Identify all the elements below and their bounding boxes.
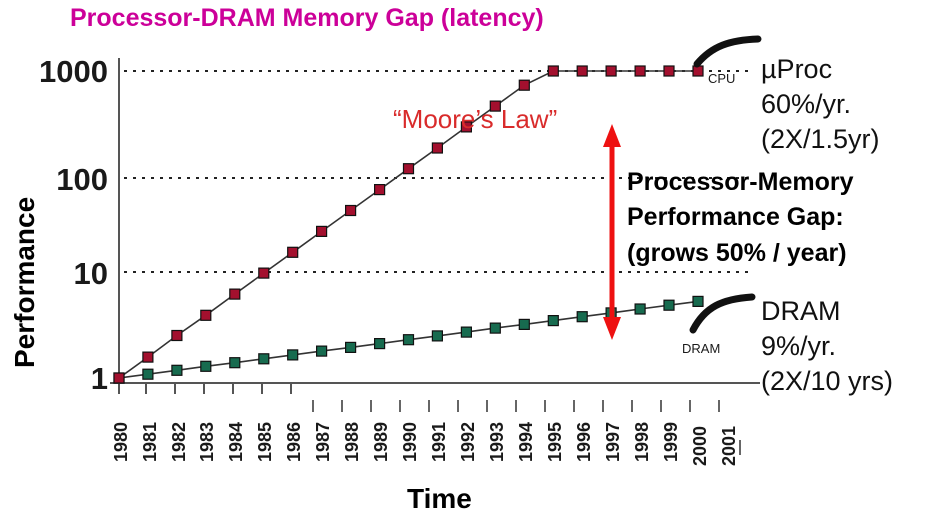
x-label-1994: 1994 [516,422,536,462]
gap-label-line-1: Processor-Memory [627,168,854,196]
cpu-marker-point [172,331,182,341]
dram-marker-point [404,335,414,345]
dram-marker-point [461,327,471,337]
cpu-marker-point [114,373,124,383]
cpu-marker-point [143,352,153,362]
x-label-1992: 1992 [458,422,478,462]
x-label-1984: 1984 [226,422,246,462]
dram-marker-point [230,358,240,368]
x-axis-ticks [119,383,291,394]
x-label-1995: 1995 [545,422,565,462]
memory-gap-chart: Processor-DRAM Memory Gap (latency) Perf… [0,0,925,517]
cpu-marker-point [548,66,558,76]
x-label-1988: 1988 [342,422,362,462]
x-label-1987: 1987 [313,422,333,462]
x-label-1981: 1981 [140,422,160,462]
cpu-marker-point [519,80,529,90]
dram-curve-tag: DRAM [682,341,720,356]
cpu-legend-line-3: (2X/1.5yr) [761,124,880,154]
x-label-1998: 1998 [632,422,652,462]
x-label-1982: 1982 [169,422,189,462]
cpu-marker-point [375,185,385,195]
x-label-1996: 1996 [574,422,594,462]
x-label-1990: 1990 [400,422,420,462]
dram-legend-line-2: 9%/yr. [761,331,836,361]
cpu-marker-point [346,206,356,216]
cpu-marker-point [664,66,674,76]
cpu-curve-tag: CPU [708,71,735,86]
dram-marker-point [259,354,269,364]
dram-marker-point [519,319,529,329]
x-label-1986: 1986 [284,422,304,462]
moores-law-annotation: “Moore’s Law” [393,104,557,134]
y-tick-1: 1 [91,361,108,396]
dram-marker-point [664,300,674,310]
x-label-1985: 1985 [255,422,275,462]
x-axis-title: Time [407,483,472,514]
cpu-marker-point [317,226,327,236]
cpu-marker-point [404,164,414,174]
gap-label-line-3: (grows 50% / year) [627,239,847,267]
gap-arrow-head-bottom [603,317,621,340]
cpu-marker-point [635,66,645,76]
gap-label-line-2: Performance Gap: [627,203,844,231]
x-label-2000: 2000 [690,426,710,466]
cpu-legend-line-1: µProc [761,54,832,84]
cpu-swoosh-decoration [697,39,758,64]
dram-marker-point [172,365,182,375]
cpu-marker-point [288,247,298,257]
x-tick-labels: 1980 1981 1982 1983 1984 1985 1986 1987 … [111,422,739,466]
dram-marker-point [635,304,645,314]
cpu-marker-point [577,66,587,76]
dram-marker-point [490,323,500,333]
x-label-1989: 1989 [371,422,391,462]
dram-marker-point [577,312,587,322]
y-tick-1000: 1000 [39,54,108,89]
dram-series-markers [114,296,703,383]
dram-marker-point [201,361,211,371]
gap-arrow-head-top [603,124,621,147]
y-axis-title: Performance [9,197,40,368]
cpu-legend-line-2: 60%/yr. [761,89,851,119]
y-tick-10: 10 [74,256,108,291]
x-label-1980: 1980 [111,422,131,462]
x-label-1993: 1993 [487,422,507,462]
cpu-marker-point [259,268,269,278]
dram-marker-point [693,296,703,306]
cpu-marker-point [606,66,616,76]
dram-marker-point [288,350,298,360]
x-label-1997: 1997 [603,422,623,462]
dram-marker-point [317,346,327,356]
y-tick-100: 100 [56,162,108,197]
dram-marker-point [143,369,153,379]
dram-marker-point [432,331,442,341]
dram-marker-point [346,342,356,352]
x-label-1999: 1999 [661,422,681,462]
dram-marker-point [548,316,558,326]
cpu-marker-point [230,289,240,299]
cpu-marker-point [693,66,703,76]
cpu-marker-point [432,143,442,153]
dram-marker-point [375,339,385,349]
chart-title: Processor-DRAM Memory Gap (latency) [70,4,544,32]
figure-root: Processor-DRAM Memory Gap (latency) Perf… [0,0,925,517]
x-label-2001: 2001 [719,426,739,466]
x-label-1983: 1983 [197,422,217,462]
dram-legend-line-1: DRAM [761,296,841,326]
dram-legend-line-3: (2X/10 yrs) [761,366,893,396]
cpu-marker-point [201,310,211,320]
x-label-1991: 1991 [429,422,449,462]
